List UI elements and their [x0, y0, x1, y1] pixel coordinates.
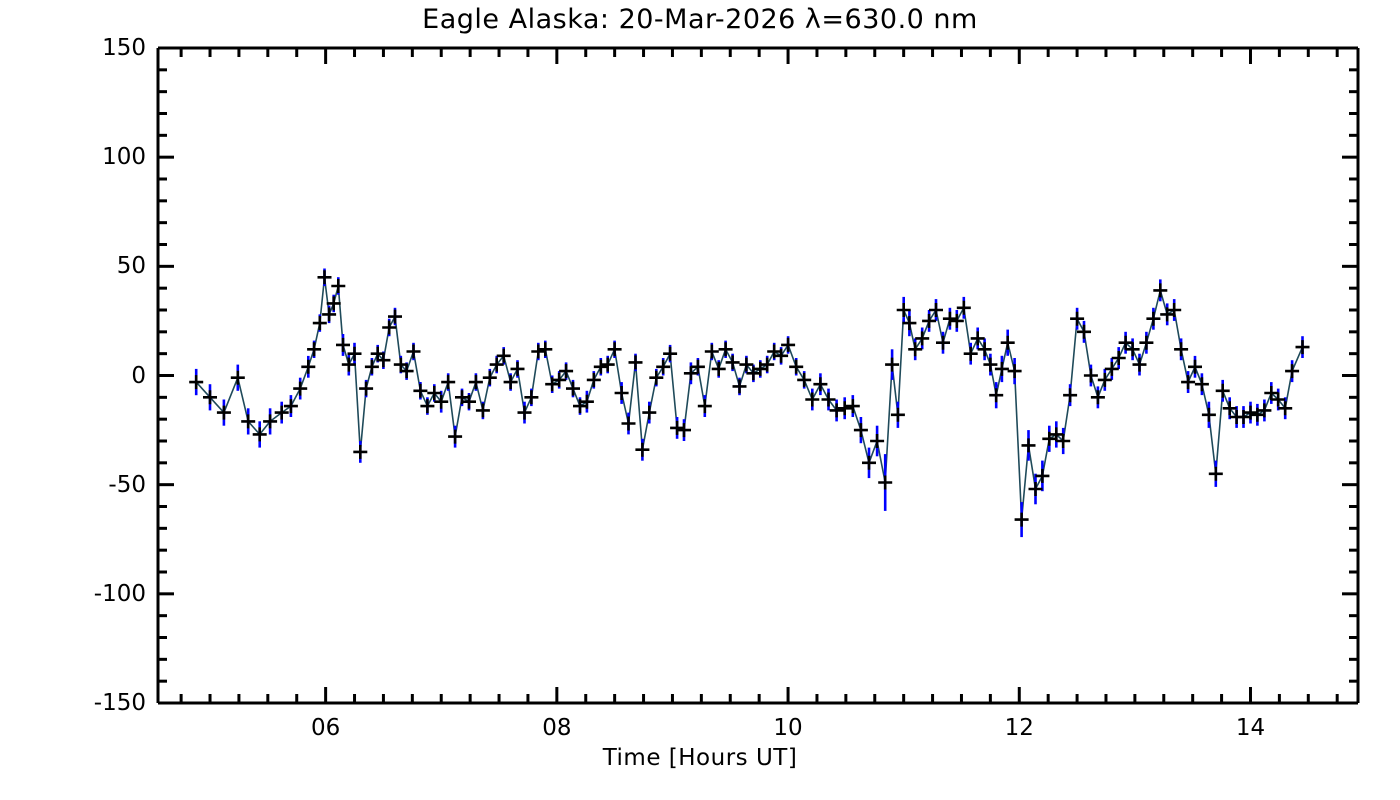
data-point-marker	[275, 406, 289, 420]
data-point-marker	[1070, 312, 1084, 326]
plot-figure: Eagle Alaska: 20-Mar-2026 λ=630.0 nm Zen…	[0, 0, 1400, 800]
data-point-marker	[1091, 390, 1105, 404]
data-point-marker	[1209, 467, 1223, 481]
data-point-marker	[878, 476, 892, 490]
y-tick-label: 100	[26, 146, 146, 169]
data-point-marker	[936, 336, 950, 350]
data-point-marker	[1022, 438, 1036, 452]
data-point-marker	[908, 342, 922, 356]
data-point-marker	[1188, 360, 1202, 374]
data-point-marker	[1153, 283, 1167, 297]
data-point-marker	[1105, 362, 1119, 376]
data-point-marker	[862, 456, 876, 470]
data-point-marker	[293, 382, 307, 396]
data-point-marker	[420, 399, 434, 413]
data-point-marker	[733, 379, 747, 393]
data-point-marker	[635, 443, 649, 457]
x-tick-label: 08	[517, 717, 597, 740]
data-point-marker	[726, 355, 740, 369]
data-point-marker	[476, 403, 490, 417]
data-point-marker	[615, 386, 629, 400]
data-point-marker	[629, 355, 643, 369]
data-point-marker	[483, 371, 497, 385]
data-point-marker	[1133, 358, 1147, 372]
y-tick-label: 150	[26, 37, 146, 60]
data-point-marker	[531, 345, 545, 359]
data-point-marker	[1063, 388, 1077, 402]
data-point-marker	[670, 421, 684, 435]
data-point-marker	[1077, 325, 1091, 339]
data-point-marker	[301, 360, 315, 374]
data-point-marker	[1008, 364, 1022, 378]
data-point-marker	[1029, 482, 1043, 496]
y-tick-label: 50	[26, 255, 146, 278]
data-point-marker	[231, 371, 245, 385]
data-point-marker	[524, 390, 538, 404]
data-point-marker	[601, 358, 615, 372]
data-point-marker	[846, 399, 860, 413]
data-point-marker	[1112, 351, 1126, 365]
data-point-marker	[712, 362, 726, 376]
data-point-marker	[318, 270, 332, 284]
data-point-marker	[511, 362, 525, 376]
data-point-marker	[854, 423, 868, 437]
data-point-marker	[698, 399, 712, 413]
x-tick-label: 06	[286, 717, 366, 740]
data-point-marker	[566, 382, 580, 396]
data-point-marker	[1139, 336, 1153, 350]
data-point-marker	[781, 338, 795, 352]
data-point-marker	[441, 375, 455, 389]
x-tick-label: 14	[1210, 717, 1290, 740]
data-point-marker	[642, 406, 656, 420]
data-point-marker	[870, 434, 884, 448]
data-point-marker	[336, 338, 350, 352]
data-line	[196, 277, 1302, 519]
data-point-marker	[929, 303, 943, 317]
data-point-marker	[448, 430, 462, 444]
data-point-marker	[1195, 377, 1209, 391]
data-point-marker	[915, 331, 929, 345]
data-point-marker	[1285, 364, 1299, 378]
data-point-marker	[469, 375, 483, 389]
data-point-marker	[559, 364, 573, 378]
data-point-marker	[307, 342, 321, 356]
data-point-marker	[353, 445, 367, 459]
data-point-marker	[331, 279, 345, 293]
y-tick-label: 0	[26, 365, 146, 388]
data-point-marker	[594, 360, 608, 374]
data-point-marker	[1015, 513, 1029, 527]
data-point-marker	[957, 301, 971, 315]
data-point-marker	[587, 373, 601, 387]
data-point-marker	[504, 375, 518, 389]
data-point-marker	[656, 360, 670, 374]
y-tick-label: -150	[26, 692, 146, 715]
data-point-marker	[797, 373, 811, 387]
x-tick-label: 12	[979, 717, 1059, 740]
data-point-marker	[518, 406, 532, 420]
data-point-marker	[922, 314, 936, 328]
y-tick-label: -50	[26, 474, 146, 497]
data-point-marker	[950, 314, 964, 328]
data-point-marker	[359, 382, 373, 396]
data-point-marker	[1035, 469, 1049, 483]
x-tick-label: 10	[748, 717, 828, 740]
data-series-group	[189, 269, 1309, 538]
data-point-marker	[789, 360, 803, 374]
data-point-marker	[663, 347, 677, 361]
data-point-marker	[989, 388, 1003, 402]
data-point-marker	[943, 312, 957, 326]
axis-frame-group	[158, 48, 1358, 703]
data-point-marker	[1216, 384, 1230, 398]
data-point-marker	[407, 345, 421, 359]
plot-canvas	[0, 0, 1400, 800]
data-point-marker	[1296, 340, 1310, 354]
data-point-marker	[1202, 408, 1216, 422]
data-point-marker	[622, 417, 636, 431]
data-point-marker	[805, 393, 819, 407]
data-point-marker	[284, 399, 298, 413]
data-point-marker	[719, 342, 733, 356]
data-point-marker	[822, 393, 836, 407]
data-point-marker	[1174, 342, 1188, 356]
data-point-marker	[813, 377, 827, 391]
data-point-marker	[891, 408, 905, 422]
data-point-marker	[608, 342, 622, 356]
data-point-marker	[313, 316, 327, 330]
y-tick-label: -100	[26, 583, 146, 606]
data-point-marker	[1098, 373, 1112, 387]
data-point-marker	[885, 358, 899, 372]
data-point-marker	[971, 331, 985, 345]
data-point-marker	[413, 384, 427, 398]
data-point-marker	[830, 403, 844, 417]
data-point-marker	[1001, 336, 1015, 350]
data-point-marker	[964, 347, 978, 361]
data-point-marker	[649, 371, 663, 385]
data-point-marker	[1084, 369, 1098, 383]
data-point-marker	[838, 401, 852, 415]
data-point-marker	[1181, 375, 1195, 389]
data-point-marker	[677, 423, 691, 437]
data-point-marker	[1146, 312, 1160, 326]
data-point-marker	[705, 345, 719, 359]
data-point-marker	[538, 342, 552, 356]
